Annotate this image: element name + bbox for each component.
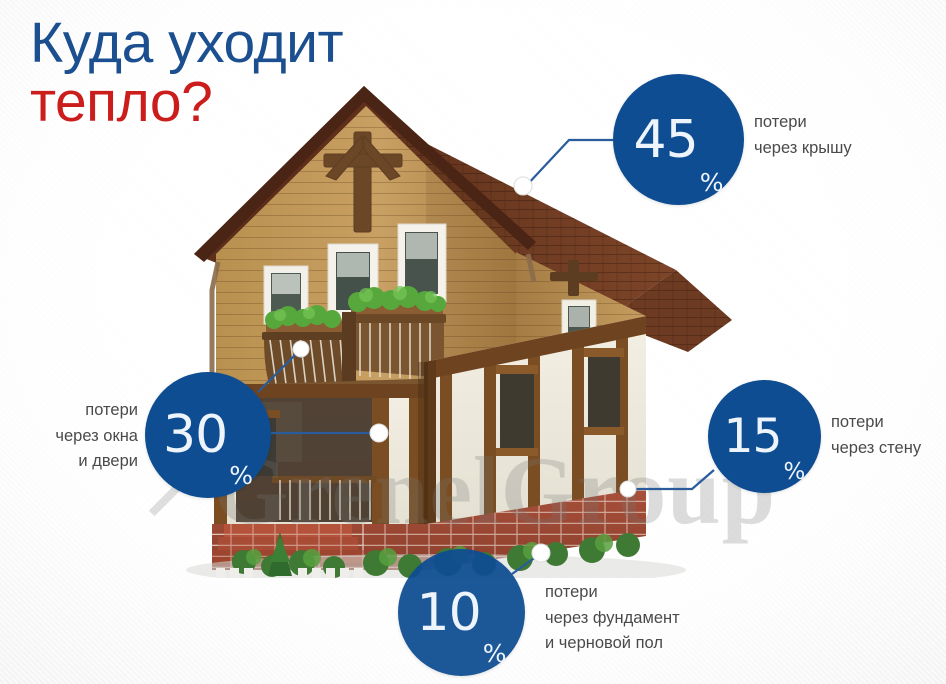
callout-value-roof: 45 xyxy=(634,114,698,166)
callout-bubble-windows[interactable]: 30 % xyxy=(145,372,271,498)
wall-window-2 xyxy=(584,348,624,435)
infographic-canvas: Куда уходит тепло? xyxy=(0,0,946,684)
callout-caption-roof: потери через крышу xyxy=(754,110,852,161)
title-line-1: Куда уходит xyxy=(30,14,343,73)
callout-value-foundation: 10 xyxy=(417,587,481,639)
callout-value-wall: 15 xyxy=(724,413,782,460)
callout-bubble-wall[interactable]: 15 % xyxy=(708,380,821,493)
callout-value-windows: 30 xyxy=(163,409,227,461)
percent-sign-foundation: % xyxy=(483,641,507,666)
callout-caption-wall: потери через стену xyxy=(831,410,921,461)
wall-window-1 xyxy=(496,365,538,456)
percent-sign-wall: % xyxy=(783,461,805,484)
percent-sign-roof: % xyxy=(700,170,724,195)
callout-bubble-roof[interactable]: 45 % xyxy=(613,74,744,205)
callout-caption-foundation: потери через фундамент и черновой пол xyxy=(545,580,680,657)
callout-bubble-foundation[interactable]: 10 % xyxy=(398,549,525,676)
callout-caption-windows: потери через окна и двери xyxy=(28,398,138,475)
percent-sign-windows: % xyxy=(229,463,253,488)
